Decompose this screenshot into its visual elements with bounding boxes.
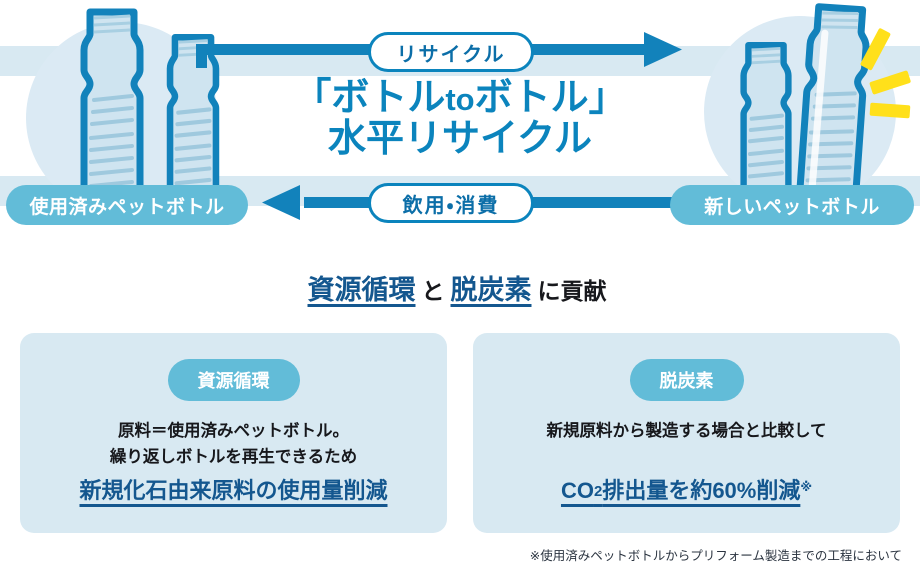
card-badge: 脱炭素 [630, 359, 744, 401]
footnote-marker: ※ [800, 480, 812, 494]
benefit-card-resource-circulation: 資源循環 原料＝使用済みペットボトル。 繰り返しボトルを再生できるため 新規化石… [20, 333, 447, 533]
title-line-1: 「ボトルtoボトル」 [293, 77, 626, 119]
card-badge: 資源循環 [168, 359, 300, 401]
arrow-label-recycle: リサイクル [368, 32, 534, 72]
label-used-bottles: 使用済みペットボトル [6, 185, 248, 225]
card-description: 原料＝使用済みペットボトル。 繰り返しボトルを再生できるため [20, 419, 447, 470]
card-description-line-2: 繰り返しボトルを再生できるため [20, 445, 447, 471]
footnote-text: ※使用済みペットボトルからプリフォーム製造までの工程において [530, 545, 902, 564]
new-bottle-small [744, 45, 789, 200]
contribution-term-2: 脱炭素 [451, 275, 532, 305]
card-description-line-1: 原料＝使用済みペットボトル。 [20, 419, 447, 445]
title-line-2: 水平リサイクル [250, 119, 670, 160]
benefit-card-decarbonization: 脱炭素 新規原料から製造する場合と比較して CO2排出量を約60%削減※ [473, 333, 900, 533]
co2-reduction-text: 排出量を約60%削減 [602, 478, 800, 503]
contribution-term-1: 資源循環 [308, 275, 416, 305]
contribution-heading: 資源循環と脱炭素に貢献 [0, 268, 920, 307]
card-highlight: 新規化石由来原料の使用量削減 [20, 473, 447, 505]
co2-prefix: CO [561, 478, 594, 503]
card-highlight: CO2排出量を約60%削減※ [473, 473, 900, 505]
new-bottle-large [799, 6, 868, 203]
card-highlight-text: 新規化石由来原料の使用量削減 [79, 478, 387, 503]
card-description-line-1: 新規原料から製造する場合と比較して [473, 419, 900, 445]
recycling-cycle-diagram: 「ボトルtoボトル」 水平リサイクル リサイクル 飲用・消費 使用済みペットボト… [0, 0, 920, 238]
card-highlight-text: CO2排出量を約60%削減 [561, 478, 800, 503]
used-bottle-large [84, 12, 140, 206]
card-description: 新規原料から製造する場合と比較して [473, 419, 900, 445]
page-title: 「ボトルtoボトル」 水平リサイクル [250, 78, 670, 160]
used-bottle-small [170, 37, 216, 196]
label-new-bottles: 新しいペットボトル [670, 185, 914, 225]
arrow-label-consume: 飲用・消費 [368, 183, 534, 223]
contribution-suffix: に貢献 [538, 278, 607, 304]
contribution-conjunction: と [422, 278, 445, 304]
